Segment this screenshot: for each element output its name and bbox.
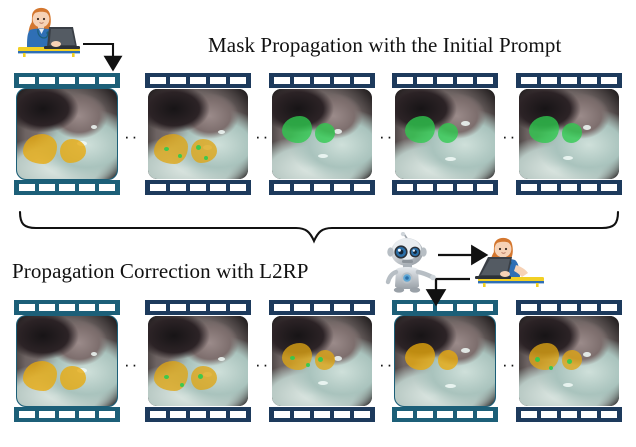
film-perforations-top bbox=[516, 300, 622, 315]
frame-image bbox=[148, 89, 248, 179]
film-perforations-bottom bbox=[145, 407, 251, 422]
mask-yellow bbox=[23, 361, 57, 391]
film-perforations-bottom bbox=[145, 180, 251, 195]
mask-yellow bbox=[405, 343, 435, 370]
mask-green-fleck bbox=[164, 147, 169, 151]
page-title-bottom: Propagation Correction with L2RP bbox=[12, 259, 309, 284]
top-frame-1[interactable] bbox=[14, 73, 120, 195]
frame-image bbox=[17, 316, 117, 406]
frame-image bbox=[519, 89, 619, 179]
frame-separator: ·· bbox=[124, 128, 139, 145]
frame-image bbox=[395, 89, 495, 179]
mask-green-fleck bbox=[290, 356, 295, 360]
mask-green-fleck bbox=[196, 145, 201, 150]
mask-yellow bbox=[23, 134, 57, 164]
film-perforations-bottom bbox=[516, 407, 622, 422]
mask-green-fleck bbox=[198, 374, 203, 379]
film-perforations-bottom bbox=[269, 180, 375, 195]
film-perforations-bottom bbox=[14, 407, 120, 422]
frame-image bbox=[272, 89, 372, 179]
clinician-with-laptop-bottom bbox=[472, 232, 556, 294]
film-perforations-top bbox=[14, 73, 120, 88]
film-perforations-top bbox=[269, 73, 375, 88]
top-frame-4[interactable] bbox=[392, 73, 498, 195]
mask-green bbox=[405, 116, 435, 143]
clinician-with-laptop-top bbox=[10, 2, 90, 64]
film-perforations-top bbox=[145, 300, 251, 315]
mask-yellow bbox=[529, 343, 559, 370]
mask-green bbox=[282, 116, 312, 143]
frame-image bbox=[395, 316, 495, 406]
mask-green-fleck bbox=[178, 154, 182, 158]
top-frame-5[interactable] bbox=[516, 73, 622, 195]
top-frame-3[interactable] bbox=[269, 73, 375, 195]
bottom-frame-4[interactable] bbox=[392, 300, 498, 422]
mask-yellow bbox=[154, 134, 188, 164]
film-perforations-top bbox=[145, 73, 251, 88]
film-perforations-top bbox=[392, 300, 498, 315]
frame-image bbox=[148, 316, 248, 406]
robot-agent-icon bbox=[378, 232, 440, 294]
bottom-frame-5[interactable] bbox=[516, 300, 622, 422]
frame-separator: ·· bbox=[124, 356, 139, 373]
film-perforations-bottom bbox=[14, 180, 120, 195]
film-perforations-bottom bbox=[392, 407, 498, 422]
film-perforations-top bbox=[516, 73, 622, 88]
mask-green-fleck bbox=[306, 363, 310, 367]
frame-image bbox=[17, 89, 117, 179]
mask-green bbox=[529, 116, 559, 143]
frame-image bbox=[272, 316, 372, 406]
film-perforations-top bbox=[269, 300, 375, 315]
mask-green-fleck bbox=[180, 383, 184, 387]
film-perforations-top bbox=[14, 300, 120, 315]
arrow-down-to-reprompted-frame bbox=[436, 279, 470, 296]
figure-root: Mask Propagation with the Initial Prompt… bbox=[0, 0, 636, 447]
film-perforations-bottom bbox=[516, 180, 622, 195]
page-title-top: Mask Propagation with the Initial Prompt bbox=[208, 33, 561, 58]
bottom-frame-1[interactable] bbox=[14, 300, 120, 422]
film-perforations-bottom bbox=[269, 407, 375, 422]
frame-image bbox=[519, 316, 619, 406]
film-perforations-top bbox=[392, 73, 498, 88]
mask-green-fleck bbox=[204, 156, 208, 160]
top-frame-2[interactable] bbox=[145, 73, 251, 195]
bottom-frame-3[interactable] bbox=[269, 300, 375, 422]
film-perforations-bottom bbox=[392, 180, 498, 195]
bottom-frame-2[interactable] bbox=[145, 300, 251, 422]
